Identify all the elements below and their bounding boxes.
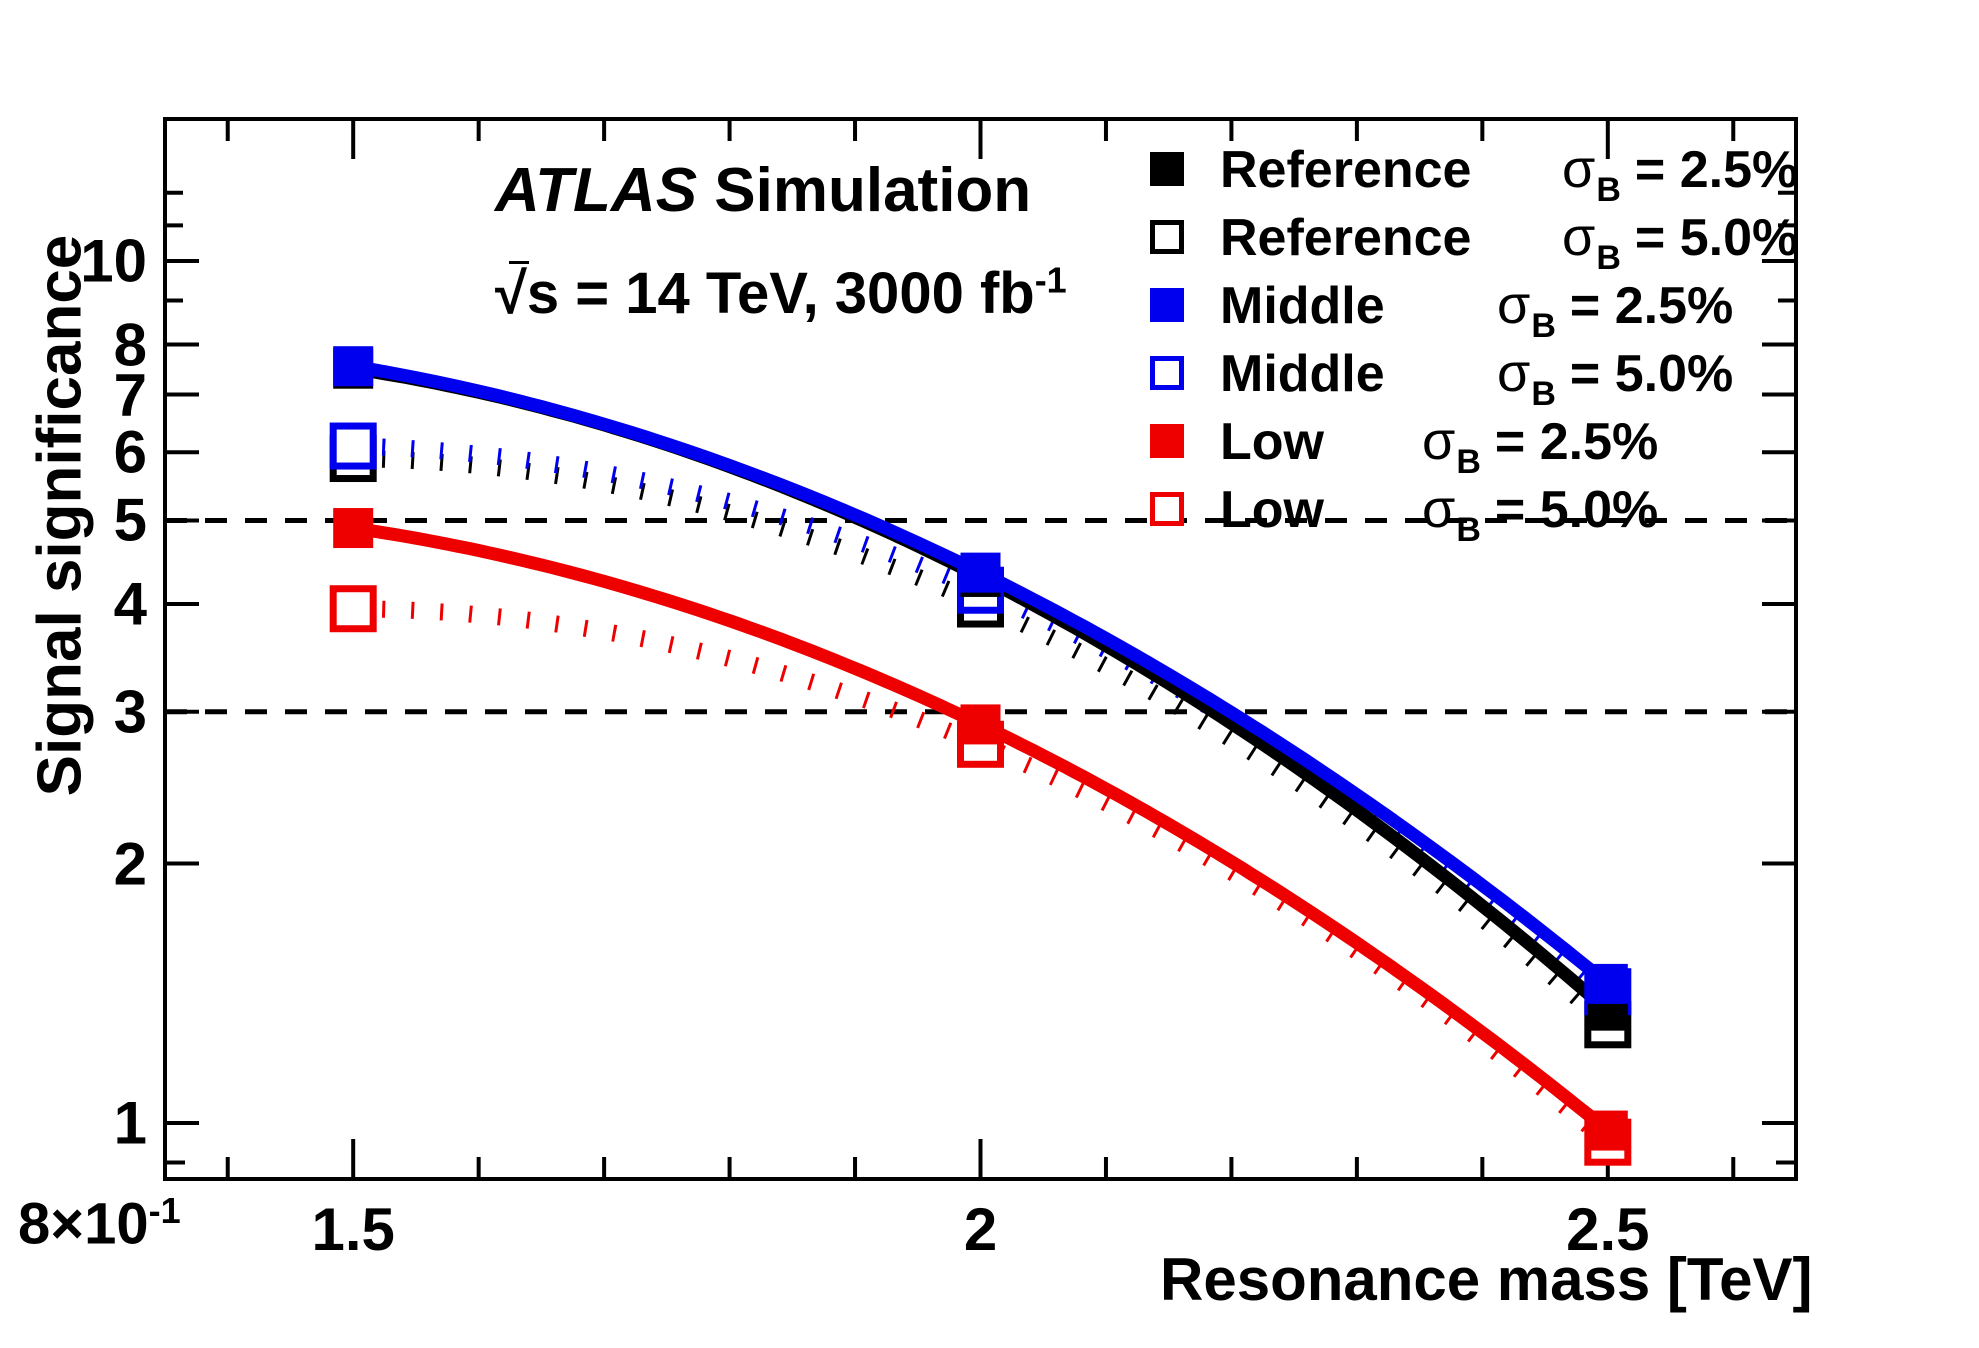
y-axis-title: Signal significance	[25, 206, 96, 826]
y-axis-start-label: 8×10-1	[18, 1190, 181, 1257]
legend-label: MiddleσB= 2.5%	[1220, 274, 1733, 336]
legend: ReferenceσB= 2.5%ReferenceσB= 5.0%Middle…	[1150, 135, 1780, 543]
atlas-word: ATLAS	[495, 156, 697, 225]
legend-item[interactable]: LowσB= 2.5%	[1150, 407, 1780, 475]
sqrt-icon: √	[495, 258, 527, 327]
simulation-word: Simulation	[697, 156, 1031, 225]
y-tick-label: 1	[114, 1089, 147, 1158]
legend-series-name: Middle	[1220, 344, 1475, 404]
energy-text: s = 14 TeV, 3000 fb	[527, 261, 1035, 326]
legend-item[interactable]: LowσB= 5.0%	[1150, 475, 1780, 543]
y-tick-label: 4	[114, 570, 147, 639]
filled-square-icon	[1150, 152, 1184, 186]
y-tick-label: 6	[114, 418, 147, 487]
legend-item[interactable]: ReferenceσB= 2.5%	[1150, 135, 1780, 203]
legend-series-name: Middle	[1220, 276, 1475, 336]
legend-item[interactable]: ReferenceσB= 5.0%	[1150, 203, 1780, 271]
chart-canvas: Signal significance Resonance mass [TeV]…	[0, 0, 1979, 1348]
legend-item[interactable]: MiddleσB= 5.0%	[1150, 339, 1780, 407]
open-square-icon	[1150, 492, 1184, 526]
x-tick-label: 1.5	[311, 1195, 394, 1264]
legend-series-name: Reference	[1220, 208, 1540, 268]
open-square-icon	[1150, 356, 1184, 390]
legend-series-name: Reference	[1220, 140, 1540, 200]
legend-sigma-value: σB= 2.5%	[1562, 138, 1798, 200]
y-tick-label: 2	[114, 829, 147, 898]
legend-label: LowσB= 5.0%	[1220, 478, 1658, 540]
legend-sigma-value: σB= 2.5%	[1422, 410, 1658, 472]
atlas-simulation-label: ATLAS Simulation	[495, 155, 1031, 226]
energy-luminosity-label: √s = 14 TeV, 3000 fb-1	[495, 258, 1067, 327]
filled-square-icon	[1150, 288, 1184, 322]
legend-label: MiddleσB= 5.0%	[1220, 342, 1733, 404]
y-axis-start-exponent: -1	[149, 1190, 181, 1231]
legend-sigma-value: σB= 5.0%	[1422, 478, 1658, 540]
legend-series-name: Low	[1220, 412, 1400, 472]
x-tick-label: 2.5	[1566, 1195, 1649, 1264]
y-tick-label: 3	[114, 677, 147, 746]
y-axis-start-mantissa: 8×10	[18, 1191, 149, 1256]
x-axis-title: Resonance mass [TeV]	[1160, 1245, 1812, 1314]
legend-item[interactable]: MiddleσB= 2.5%	[1150, 271, 1780, 339]
open-square-icon	[1150, 220, 1184, 254]
energy-exponent: -1	[1035, 260, 1067, 301]
legend-label: LowσB= 2.5%	[1220, 410, 1658, 472]
legend-series-name: Low	[1220, 480, 1400, 540]
y-tick-label: 10	[80, 227, 147, 296]
legend-sigma-value: σB= 5.0%	[1497, 342, 1733, 404]
legend-sigma-value: σB= 5.0%	[1562, 206, 1798, 268]
filled-square-icon	[1150, 424, 1184, 458]
legend-label: ReferenceσB= 2.5%	[1220, 138, 1798, 200]
y-tick-label: 5	[114, 486, 147, 555]
legend-label: ReferenceσB= 5.0%	[1220, 206, 1798, 268]
legend-sigma-value: σB= 2.5%	[1497, 274, 1733, 336]
x-tick-label: 2	[964, 1195, 997, 1264]
